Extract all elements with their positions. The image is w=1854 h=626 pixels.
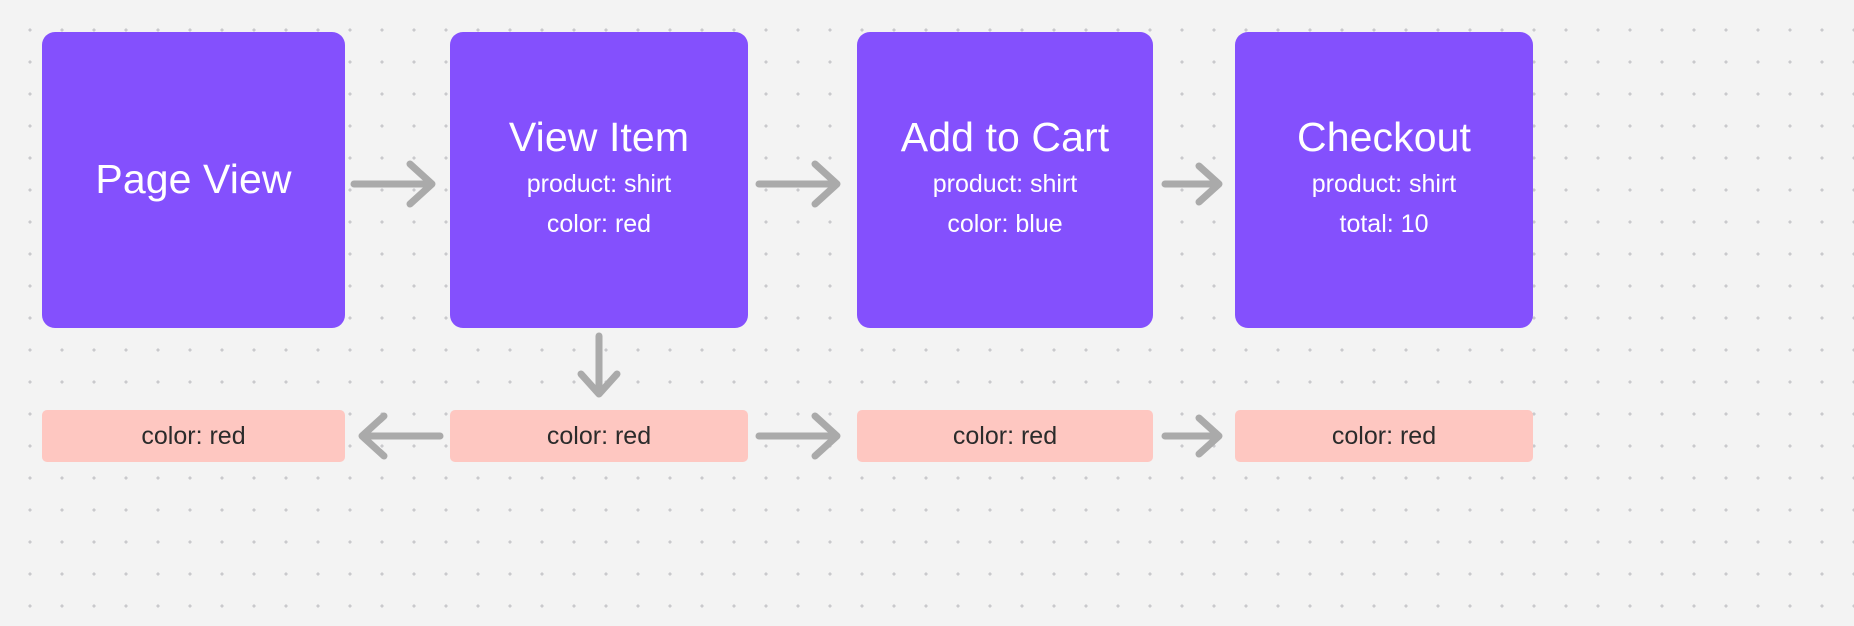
property-node-label: color: red xyxy=(547,424,651,449)
event-node-property: color: red xyxy=(547,204,651,245)
event-node-title: View Item xyxy=(509,115,689,161)
event-node-properties: product: shirt total: 10 xyxy=(1312,164,1457,245)
property-node-2[interactable]: color: red xyxy=(450,410,748,462)
connector-prop-2-to-prop-3 xyxy=(757,410,849,462)
event-node-view-item[interactable]: View Item product: shirt color: red xyxy=(450,32,748,328)
property-node-1[interactable]: color: red xyxy=(42,410,345,462)
property-node-4[interactable]: color: red xyxy=(1235,410,1533,462)
event-node-properties: product: shirt color: red xyxy=(527,164,672,245)
event-node-checkout[interactable]: Checkout product: shirt total: 10 xyxy=(1235,32,1533,328)
event-node-title: Add to Cart xyxy=(901,115,1109,161)
event-node-title: Page View xyxy=(95,157,291,203)
connector-view-item-to-prop-2 xyxy=(573,334,625,406)
event-node-page-view[interactable]: Page View xyxy=(42,32,345,328)
flow-diagram: Page View View Item product: shirt color… xyxy=(0,0,1854,626)
connector-page-view-to-view-item xyxy=(352,158,444,210)
event-node-add-to-cart[interactable]: Add to Cart product: shirt color: blue xyxy=(857,32,1153,328)
connector-prop-3-to-prop-4 xyxy=(1163,410,1229,462)
property-node-label: color: red xyxy=(1332,424,1436,449)
event-node-property: total: 10 xyxy=(1340,204,1429,245)
event-node-property: product: shirt xyxy=(1312,164,1457,205)
event-node-properties: product: shirt color: blue xyxy=(933,164,1078,245)
property-node-label: color: red xyxy=(141,424,245,449)
event-node-property: product: shirt xyxy=(933,164,1078,205)
event-node-title: Checkout xyxy=(1297,115,1471,161)
event-node-property: product: shirt xyxy=(527,164,672,205)
event-node-property: color: blue xyxy=(947,204,1062,245)
property-node-3[interactable]: color: red xyxy=(857,410,1153,462)
connector-prop-2-to-prop-1 xyxy=(352,410,444,462)
connector-view-item-to-add-to-cart xyxy=(757,158,849,210)
property-node-label: color: red xyxy=(953,424,1057,449)
connector-add-to-cart-to-checkout xyxy=(1163,158,1229,210)
